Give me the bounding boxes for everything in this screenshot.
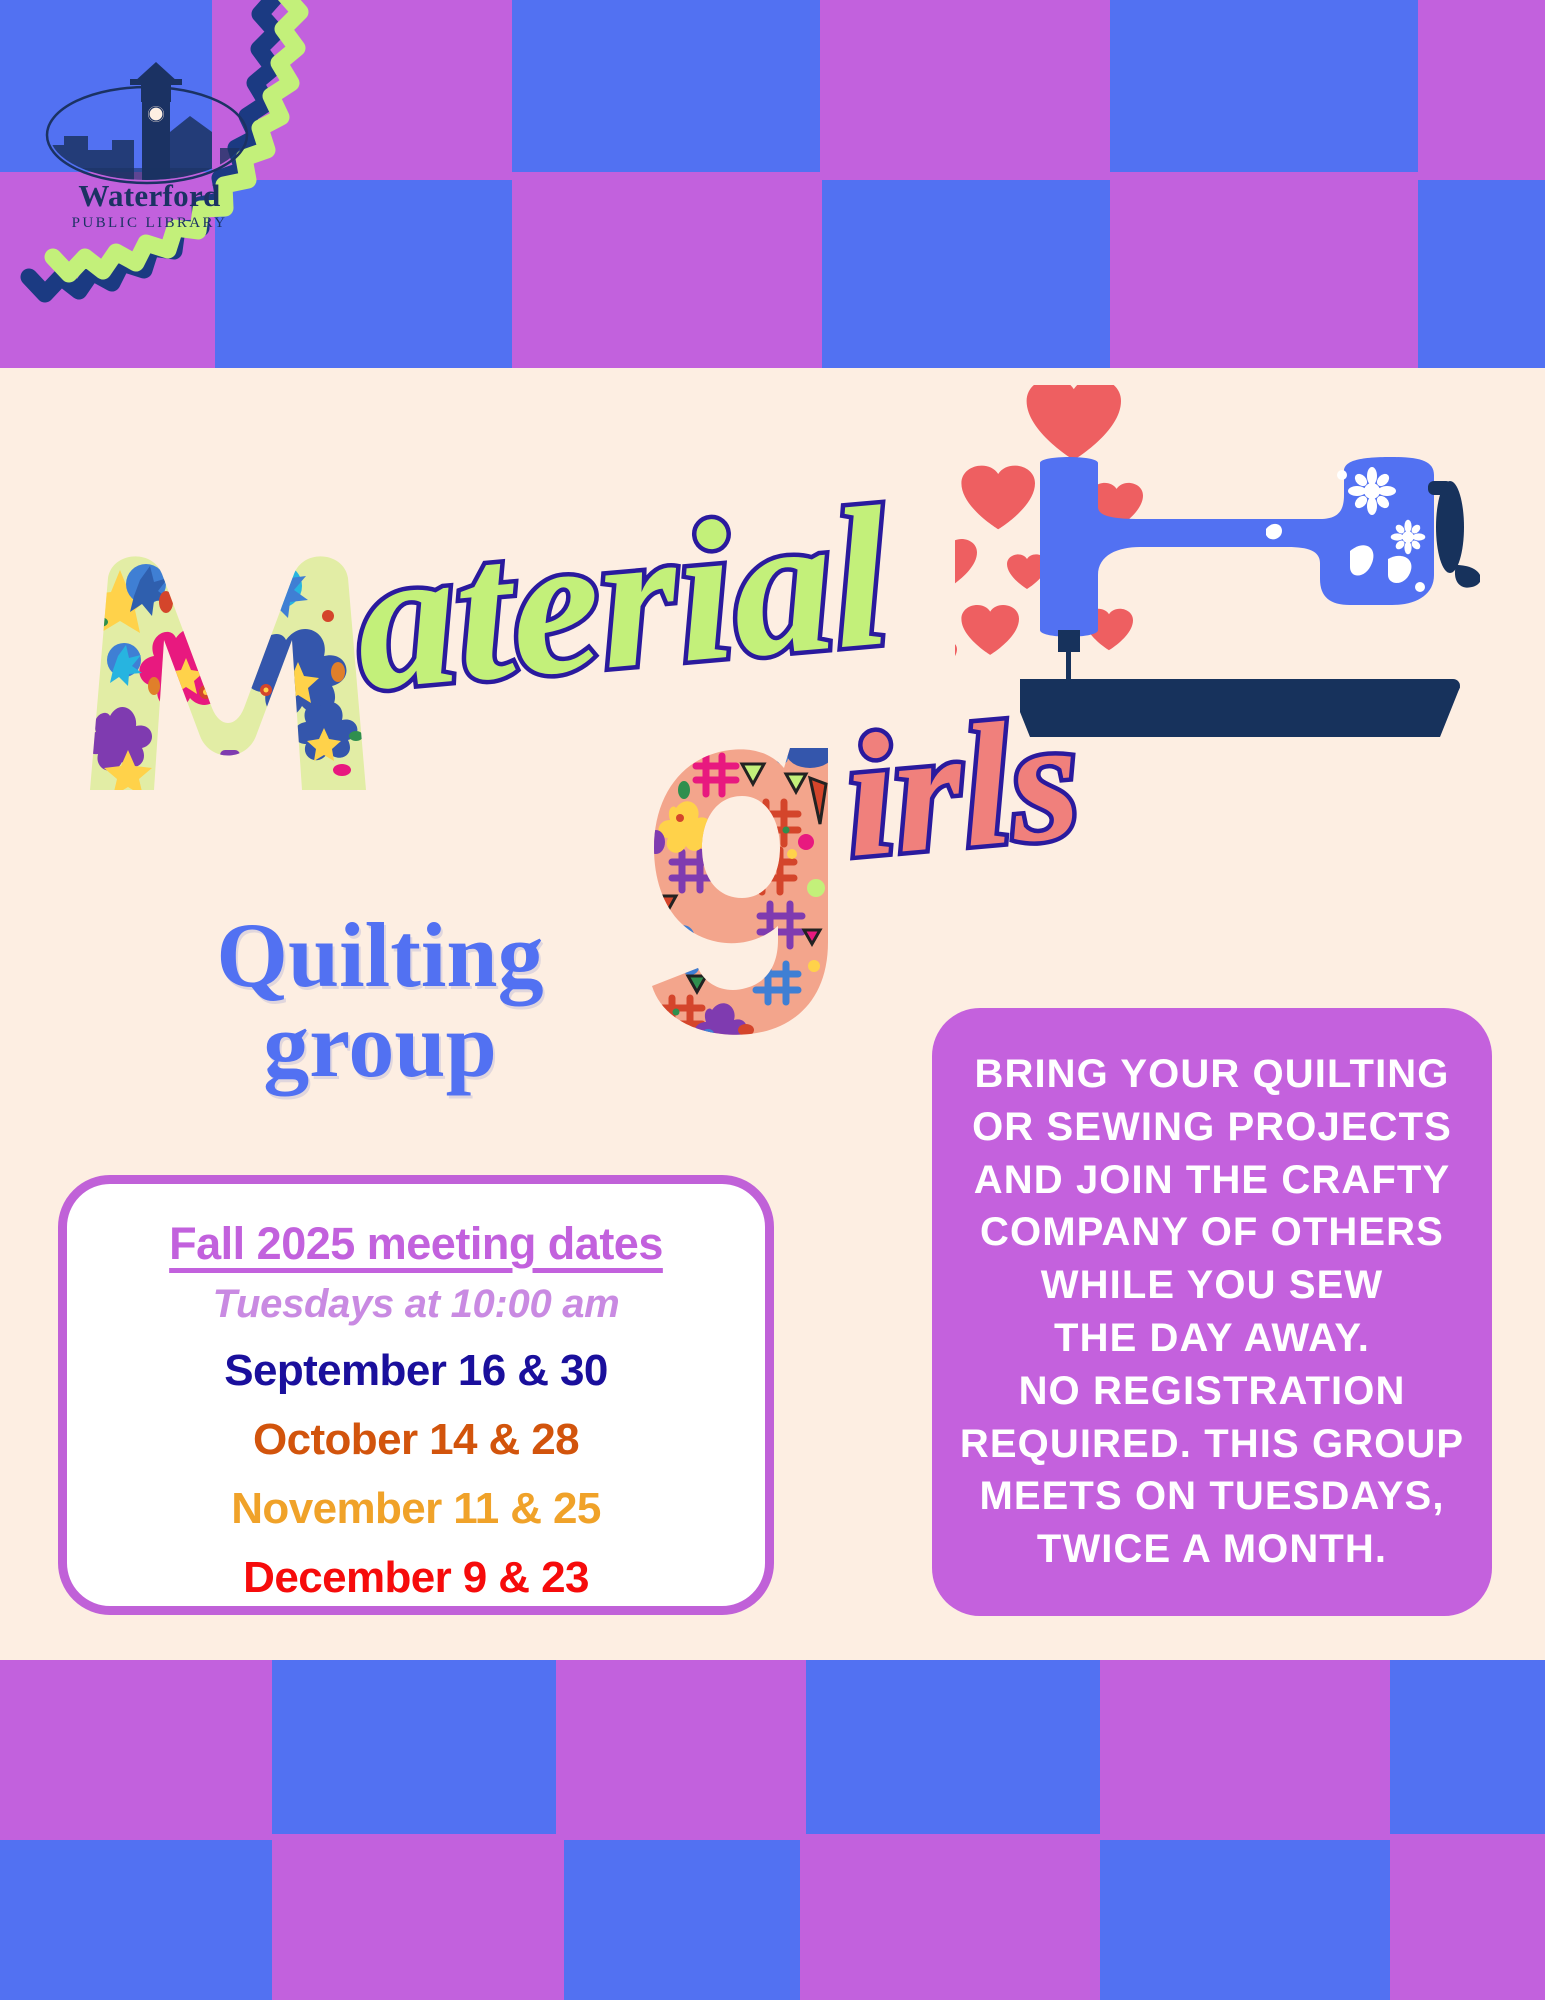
title-word-aterial: aterial (347, 477, 896, 723)
checker-bottom-svg (0, 1660, 1545, 2000)
decorative-letter-m (80, 540, 370, 790)
info-line: or sewing projects (954, 1101, 1470, 1154)
info-line: Bring your quilting (954, 1048, 1470, 1101)
dates-time: Tuesdays at 10:00 am (77, 1282, 755, 1327)
library-name: Waterford (42, 180, 257, 211)
info-card: Bring your quilting or sewing projects a… (932, 1008, 1492, 1616)
flyer-poster: Waterford Public Library (0, 0, 1545, 2000)
decorative-letter-g (650, 730, 860, 1040)
logo-wordmark: Waterford Public Library (42, 180, 257, 232)
subtitle-line-2: group (100, 1000, 660, 1090)
info-line: the day away. (954, 1312, 1470, 1365)
meeting-dates-card: Fall 2025 meeting dates Tuesdays at 10:0… (58, 1175, 774, 1615)
info-line: twice a month. (954, 1523, 1470, 1576)
subtitle-line-1: Quilting (100, 910, 660, 1000)
info-line: No registration (954, 1365, 1470, 1418)
info-line: meets on Tuesdays, (954, 1470, 1470, 1523)
title-word-irls: irls (838, 690, 1086, 885)
date-row: December 9 & 23 (77, 1553, 755, 1603)
info-line: required. This group (954, 1418, 1470, 1471)
dates-heading: Fall 2025 meeting dates (77, 1218, 755, 1270)
info-line: while you sew (954, 1259, 1470, 1312)
info-line: and join the crafty (954, 1154, 1470, 1207)
page-subtitle: Quilting group (100, 910, 660, 1090)
info-line: company of others (954, 1206, 1470, 1259)
date-row: November 11 & 25 (77, 1484, 755, 1534)
library-subtitle: Public Library (42, 215, 257, 232)
date-row: September 16 & 30 (77, 1346, 755, 1396)
date-row: October 14 & 28 (77, 1415, 755, 1465)
checkerboard-bottom (0, 1660, 1545, 2000)
